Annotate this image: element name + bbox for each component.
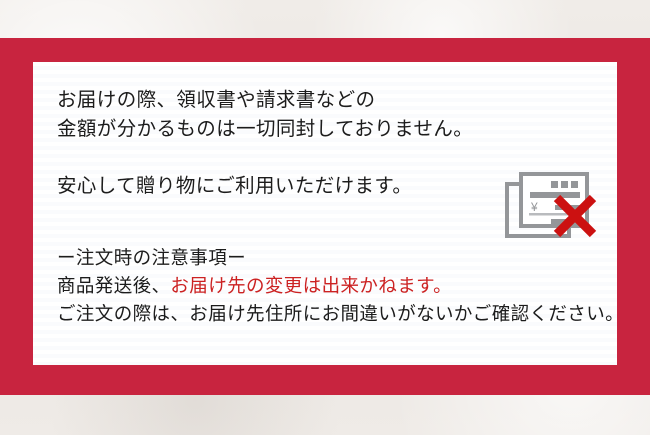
notice-heading: ー注文時の注意事項ー [57, 245, 597, 273]
notice-card: お届けの際、領収書や請求書などの 金額が分かるものは一切同封しておりません。 安… [33, 62, 617, 365]
intro-line-2: 金額が分かるものは一切同封しておりません。 [57, 115, 597, 144]
receipt-no-price-icon: ¥ [505, 172, 601, 248]
delivery-notice-banner: お届けの際、領収書や請求書などの 金額が分かるものは一切同封しておりません。 安… [0, 0, 650, 435]
intro-line-1: お届けの際、領収書や請求書などの [57, 86, 597, 115]
notice-line-3: ご注文の際は、お届け先住所にお間違いがないかご確認ください。 [57, 301, 597, 329]
notice-line-2: 商品発送後、お届け先の変更は出来かねます。 [57, 273, 597, 301]
notice-line-2-red: お届け先の変更は出来かねます。 [170, 277, 452, 297]
yen-symbol-text: ¥ [530, 200, 538, 214]
notice-line-2-black: 商品発送後、 [57, 277, 170, 297]
copy-spacer-1 [57, 144, 597, 172]
